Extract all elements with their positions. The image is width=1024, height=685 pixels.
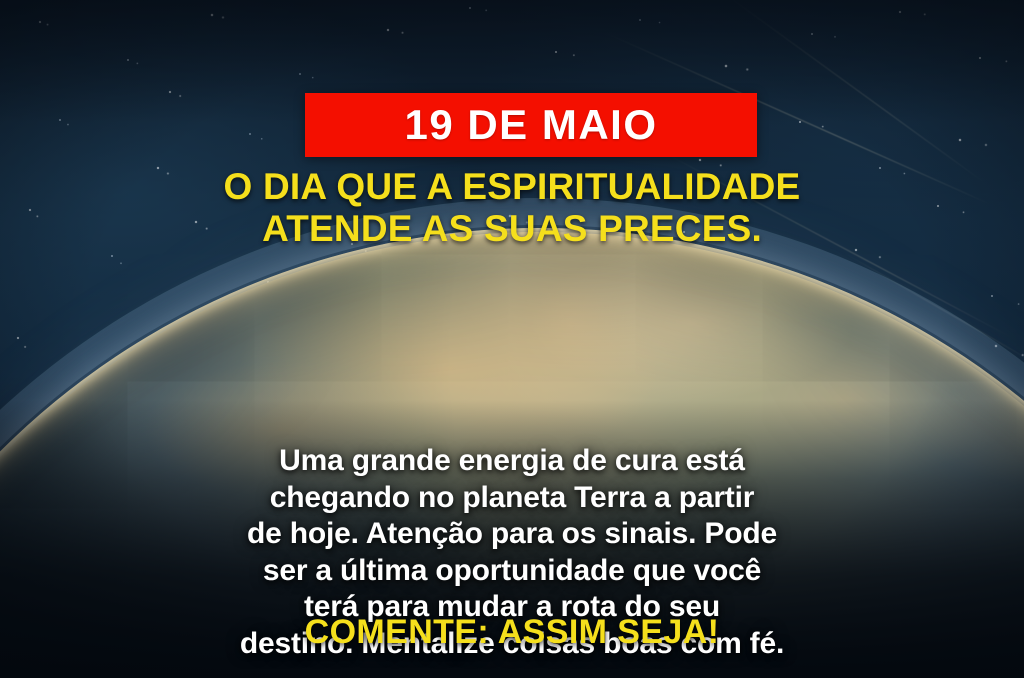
poster-canvas: 19 DE MAIO O DIA QUE A ESPIRITUALIDADE A… <box>0 0 1024 685</box>
headline-line-2: ATENDE AS SUAS PRECES. <box>0 208 1024 250</box>
headline-line-1: O DIA QUE A ESPIRITUALIDADE <box>0 166 1024 208</box>
body-line-4: ser a última oportunidade que você <box>44 553 980 590</box>
call-to-action-text: COMENTE: ASSIM SEJA! <box>0 613 1024 652</box>
date-banner: 19 DE MAIO <box>305 93 757 157</box>
body-line-2: chegando no planeta Terra a partir <box>44 480 980 517</box>
body-line-1: Uma grande energia de cura está <box>44 443 980 480</box>
body-line-3: de hoje. Atenção para os sinais. Pode <box>44 516 980 553</box>
poster-content: 19 DE MAIO O DIA QUE A ESPIRITUALIDADE A… <box>0 0 1024 685</box>
headline: O DIA QUE A ESPIRITUALIDADE ATENDE AS SU… <box>0 166 1024 250</box>
bottom-strip <box>0 678 1024 685</box>
date-banner-label: 19 DE MAIO <box>404 104 657 146</box>
